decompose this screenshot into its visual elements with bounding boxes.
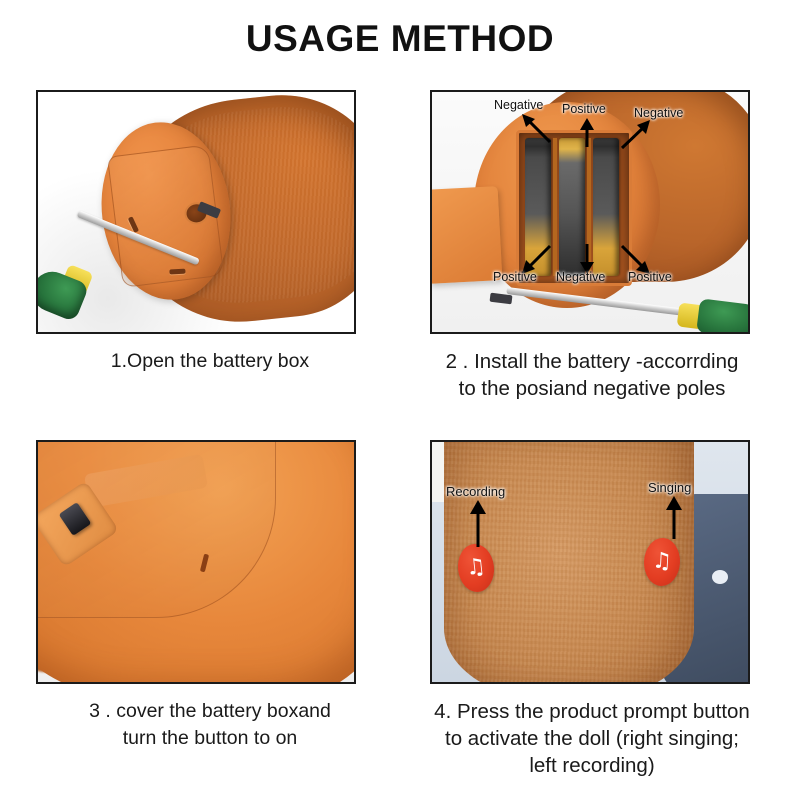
usage-step-2: Negative Positive Negative Positive	[412, 90, 772, 402]
caption-line: 2 . Install the battery -accorrding	[412, 348, 772, 375]
annotation-label-positive-bottom-right: Positive	[628, 270, 672, 284]
usage-step-1: 1.Open the battery box	[30, 90, 390, 375]
arrow-up-icon	[577, 118, 597, 148]
annotation-label-negative-top-right: Negative	[634, 106, 683, 120]
arrow-up-right-icon	[618, 120, 652, 150]
music-note-icon: ♫	[652, 550, 673, 573]
screwdriver-handle	[696, 298, 750, 334]
arrow-up-icon	[664, 496, 684, 540]
usage-step-3: 3 . cover the battery boxand turn the bu…	[30, 440, 390, 752]
step-3-caption: 3 . cover the battery boxand turn the bu…	[30, 698, 390, 752]
arrow-up-left-icon	[520, 114, 554, 144]
caption-line: to activate the doll (right singing;	[412, 725, 772, 752]
annotation-label-negative-top-left: Negative	[494, 98, 543, 112]
background-object-detail	[712, 570, 728, 584]
caption-line: left recording)	[412, 752, 772, 779]
music-note-icon: ♫	[465, 556, 487, 580]
battery-box-screwdriver-photo	[36, 90, 356, 334]
step-4-caption: 4. Press the product prompt button to ac…	[412, 698, 772, 779]
battery-polarity-photo: Negative Positive Negative Positive	[430, 90, 750, 334]
annotation-label-positive-bottom-left: Positive	[493, 270, 537, 284]
step-1-caption: 1.Open the battery box	[30, 348, 390, 375]
caption-line: to the posiand negative poles	[412, 375, 772, 402]
annotation-label-singing: Singing	[648, 480, 691, 495]
arrow-up-icon	[468, 500, 488, 548]
battery-cover-switch-photo	[36, 440, 356, 684]
caption-line: 4. Press the product prompt button	[412, 698, 772, 725]
step-2-caption: 2 . Install the battery -accorrding to t…	[412, 348, 772, 402]
battery-cover-lid	[430, 186, 502, 284]
usage-steps-grid: 1.Open the battery box Negati	[0, 90, 800, 790]
page-title: USAGE METHOD	[0, 18, 800, 60]
annotation-label-recording: Recording	[446, 484, 505, 499]
prompt-buttons-photo: ♫ ♫ Recording Singing	[430, 440, 750, 684]
battery-door	[107, 144, 224, 287]
battery-cover-body	[36, 440, 356, 684]
annotation-label-positive-top-center: Positive	[562, 102, 606, 116]
annotation-label-negative-bottom-center: Negative	[556, 270, 605, 284]
caption-line: 3 . cover the battery boxand	[30, 698, 390, 725]
caption-line: turn the button to on	[30, 725, 390, 752]
usage-step-4: ♫ ♫ Recording Singing 4. Press the produ…	[412, 440, 772, 779]
vent-slot-icon	[169, 269, 185, 275]
caption-line: 1.Open the battery box	[30, 348, 390, 375]
